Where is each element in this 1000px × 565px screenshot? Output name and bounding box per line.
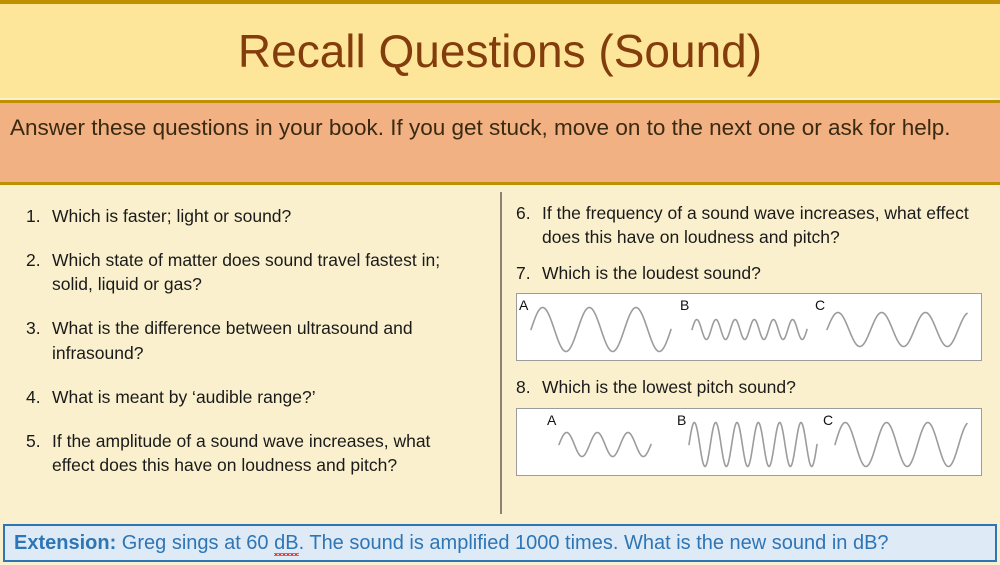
questions-column-left: 1. Which is faster; light or sound? 2. W… [0,188,500,497]
question-number: 4. [18,385,52,409]
question-text: If the frequency of a sound wave increas… [542,201,982,249]
wave-label-a: A [547,412,557,428]
spellcheck-word-db: dB [274,533,298,553]
instruction-text: Answer these questions in your book. If … [10,112,990,144]
question-text: What is the difference between ultrasoun… [52,316,472,364]
wave-label-b: B [677,412,686,428]
questions-column-right: 6. If the frequency of a sound wave incr… [500,188,1000,476]
wave-curve-a [531,308,671,352]
extension-text-part1: Greg sings at 60 [116,532,274,554]
wave-curve-c [835,422,967,466]
pitch-wave-diagram: ABC [516,408,982,476]
question-number: 6. [508,201,542,249]
question-item-4: 4. What is meant by ‘audible range?’ [18,385,472,409]
loudness-diagram: ABC [517,294,980,359]
question-number: 7. [508,261,542,285]
question-number: 3. [18,316,52,364]
question-text: If the amplitude of a sound wave increas… [52,429,472,477]
question-number: 5. [18,429,52,477]
wave-label-c: C [815,297,825,313]
question-text: Which is the lowest pitch sound? [542,375,982,399]
extension-bar: Extension: Greg sings at 60 dB. The soun… [3,524,997,562]
loudness-wave-diagram: ABC [516,293,982,361]
question-text: Which is faster; light or sound? [52,204,472,228]
slide-header: Recall Questions (Sound) [0,4,1000,98]
extension-text-part2: . The sound is amplified 1000 times. Wha… [299,532,889,554]
question-number: 1. [18,204,52,228]
question-item-5: 5. If the amplitude of a sound wave incr… [18,429,472,477]
wave-curve-b [692,320,807,340]
instruction-band: Answer these questions in your book. If … [0,100,1000,185]
question-item-6: 6. If the frequency of a sound wave incr… [508,201,982,249]
question-item-7: 7. Which is the loudest sound? [508,261,982,285]
questions-area: 1. Which is faster; light or sound? 2. W… [0,188,1000,518]
wave-curve-a [559,432,651,456]
slide-root: Recall Questions (Sound) Answer these qu… [0,0,1000,565]
wave-curve-b [689,422,817,466]
extension-text: Extension: Greg sings at 60 dB. The soun… [14,533,889,553]
question-number: 8. [508,375,542,399]
page-title: Recall Questions (Sound) [238,28,762,74]
wave-curve-c [827,313,967,347]
question-item-1: 1. Which is faster; light or sound? [18,204,472,228]
question-text: What is meant by ‘audible range?’ [52,385,472,409]
wave-label-a: A [519,297,529,313]
pitch-diagram: ABC [517,409,980,474]
wave-label-c: C [823,412,833,428]
question-item-8: 8. Which is the lowest pitch sound? [508,375,982,399]
question-item-3: 3. What is the difference between ultras… [18,316,472,364]
extension-label: Extension: [14,532,116,554]
question-item-2: 2. Which state of matter does sound trav… [18,248,472,296]
wave-label-b: B [680,297,689,313]
question-number: 2. [18,248,52,296]
question-text: Which is the loudest sound? [542,261,982,285]
question-text: Which state of matter does sound travel … [52,248,472,296]
